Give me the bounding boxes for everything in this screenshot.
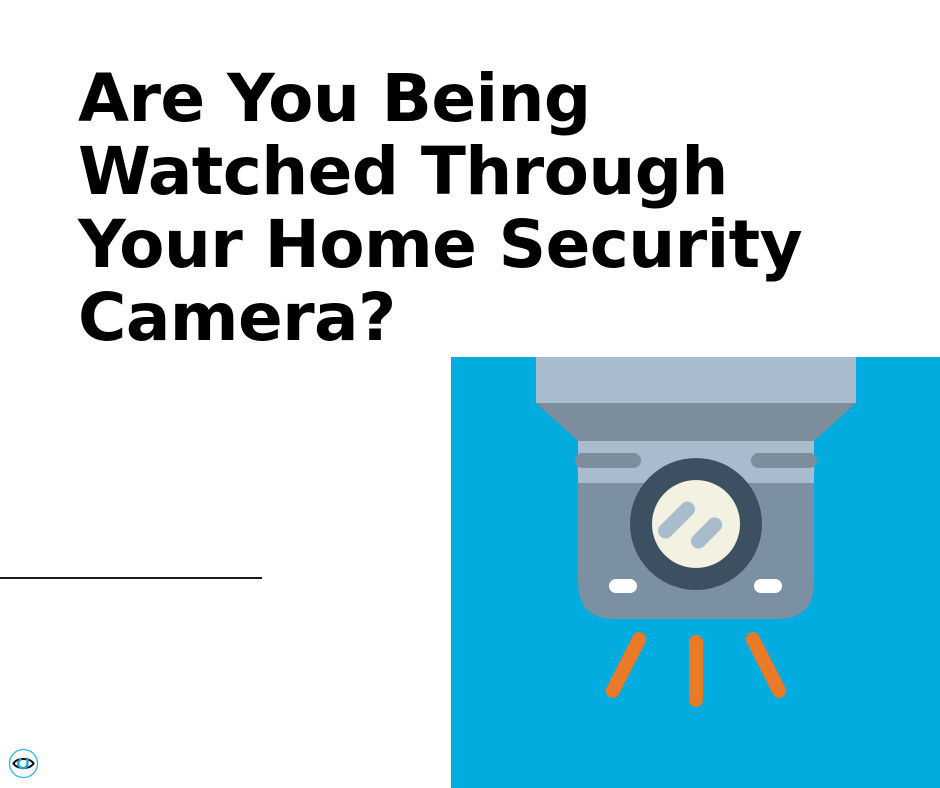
mount-neck (536, 403, 856, 441)
camera-illustration-svg (451, 357, 940, 788)
slide-canvas: Are You Being Watched Through Your Home … (0, 0, 940, 788)
security-camera-illustration (451, 357, 940, 788)
ceiling-mount-plate (536, 357, 856, 403)
eye-logo-svg (8, 748, 39, 779)
divider-rule (0, 577, 262, 579)
signal-ray-center (689, 635, 703, 707)
page-title: Are You Being Watched Through Your Home … (78, 62, 818, 354)
eye-logo[interactable] (8, 748, 39, 779)
side-tab-right (751, 453, 817, 468)
side-tab-left (575, 453, 641, 468)
led-indicator-left (609, 579, 637, 593)
led-indicator-right (754, 579, 782, 593)
